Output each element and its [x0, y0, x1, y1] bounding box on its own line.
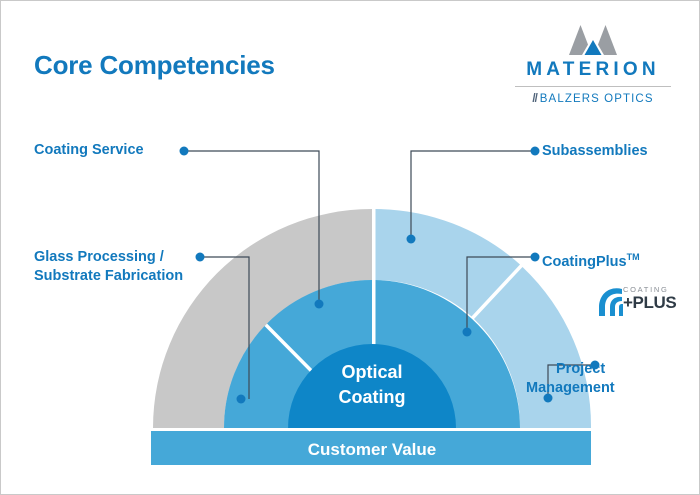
- slide-canvas: Core Competencies MATERION //BALZERS OPT…: [0, 0, 700, 495]
- label-glass-line2: Substrate Fabrication: [34, 267, 183, 286]
- dot-coating-service-target: [315, 300, 324, 309]
- label-project-line2: Management: [526, 379, 676, 398]
- label-coatingplus-text: CoatingPlus: [542, 254, 627, 270]
- dot-coating-service-label: [180, 147, 189, 156]
- label-coating-service[interactable]: Coating Service: [34, 141, 144, 160]
- dot-glass-label: [196, 253, 205, 262]
- label-coatingplus[interactable]: CoatingPlusTM: [542, 248, 640, 272]
- dot-glass-target: [237, 395, 246, 404]
- label-glass-line1: Glass Processing /: [34, 248, 183, 267]
- trademark-symbol: TM: [627, 252, 640, 262]
- label-project-line1: Project: [556, 360, 676, 379]
- dot-subassemblies-label: [531, 147, 540, 156]
- label-project-management[interactable]: Project Management: [556, 360, 676, 398]
- label-subassemblies[interactable]: Subassemblies: [542, 142, 648, 161]
- dot-coatingplus-label: [531, 253, 540, 262]
- inner-label-line2: Coating: [339, 387, 406, 407]
- dot-subassemblies-target: [407, 235, 416, 244]
- dot-coatingplus-target: [463, 328, 472, 337]
- label-glass-processing[interactable]: Glass Processing / Substrate Fabrication: [34, 248, 183, 286]
- customer-value-label: Customer Value: [308, 440, 437, 459]
- inner-label-line1: Optical: [341, 362, 402, 382]
